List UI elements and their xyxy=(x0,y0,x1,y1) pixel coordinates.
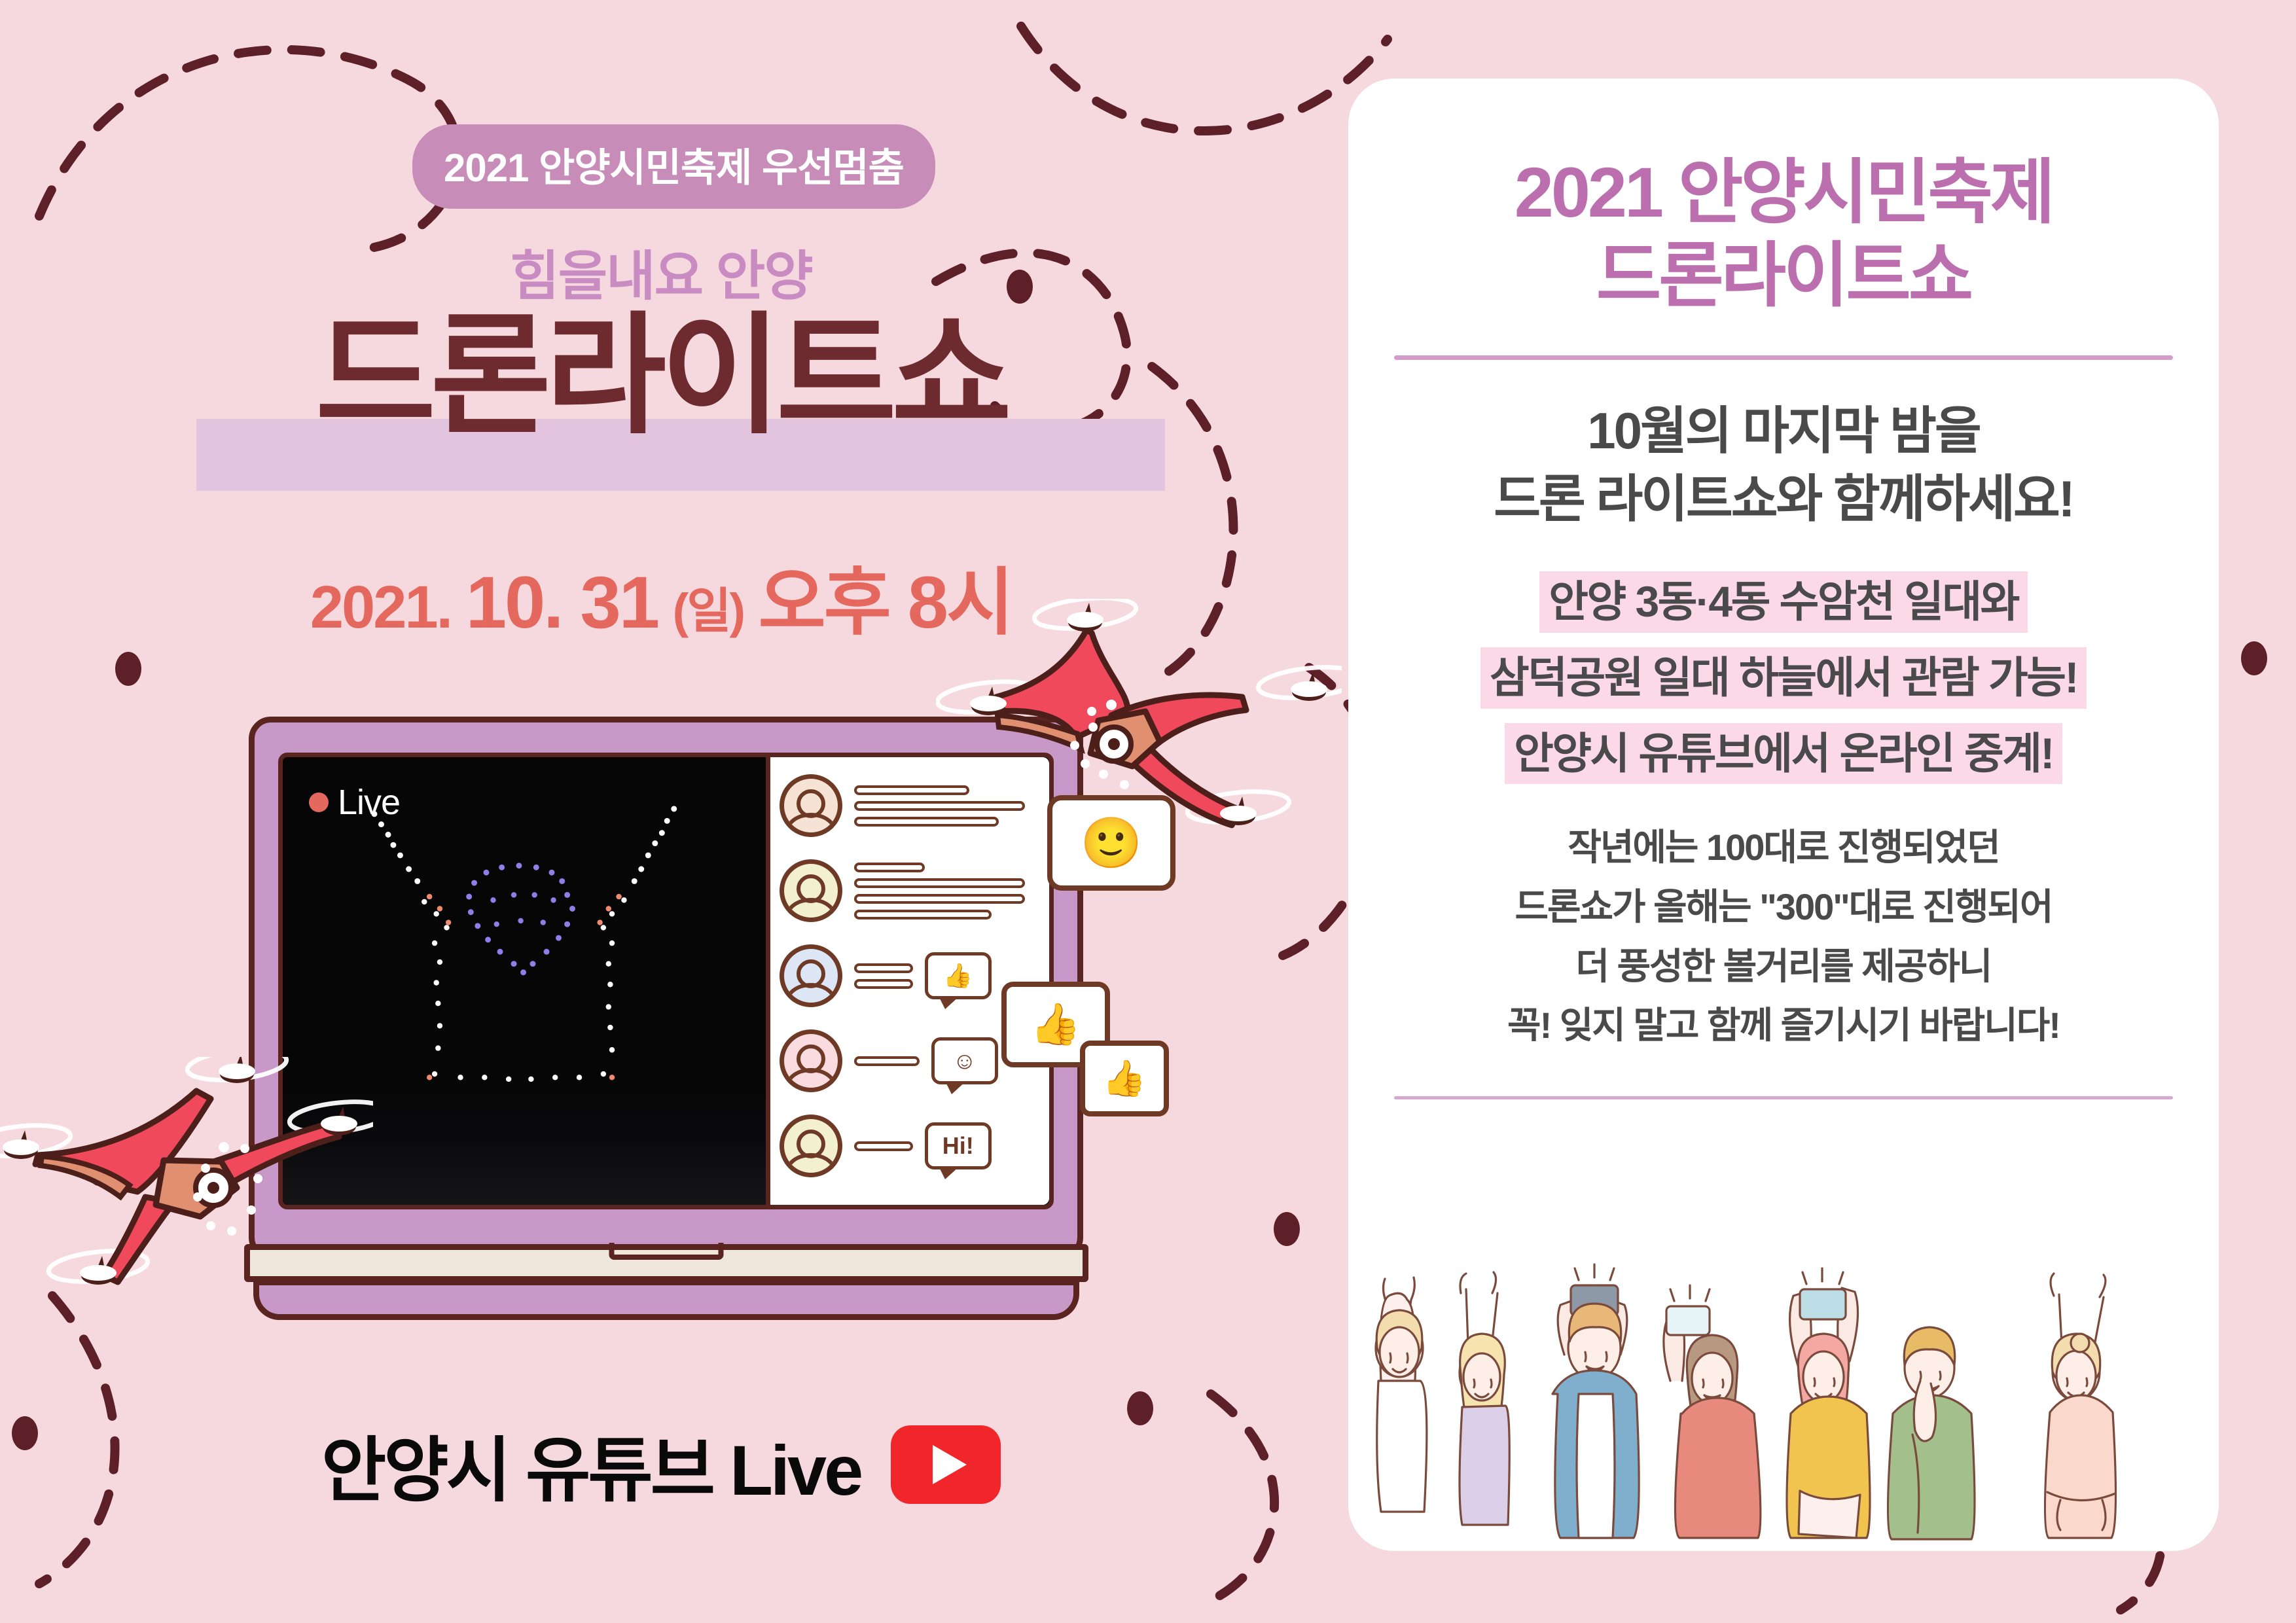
divider-bottom xyxy=(1394,1096,2173,1099)
highlight-item: 안양 3동·4동 수암천 일대와 xyxy=(1539,571,2028,633)
card-title-line-2: 드론라이트쇼 xyxy=(1394,234,2173,317)
message-placeholder-lines xyxy=(854,863,1040,919)
live-dot-icon xyxy=(309,793,329,812)
avatar xyxy=(780,774,842,837)
youtube-play-icon[interactable] xyxy=(891,1425,1001,1504)
paragraph-line: 작년에는 100대로 진행되었던 xyxy=(1394,818,2173,878)
chat-text-bubble: Hi! xyxy=(925,1122,992,1169)
poster-subtitle: 힘을내요 안양 xyxy=(0,232,1322,310)
paragraph-line: 드론쇼가 올해는 "300"대로 진행되어 xyxy=(1394,878,2173,937)
card-lead: 10월의 마지막 밤을 드론 라이트쇼와 함께하세요! xyxy=(1394,397,2173,533)
avatar xyxy=(780,944,842,1007)
thumbs-up-bubble: 👍 xyxy=(925,952,992,999)
live-label: Live xyxy=(338,782,400,823)
poster-root: 2021 안양시민축제 우선멈춤 힘을내요 안양 드론라이트쇼 2021. 10… xyxy=(0,0,2296,1623)
message-placeholder-lines xyxy=(854,1056,920,1066)
avatar xyxy=(780,859,842,922)
drone-bottom-left xyxy=(0,1057,373,1319)
info-card-content: 2021 안양시민축제 드론라이트쇼 10월의 마지막 밤을 드론 라이트쇼와 … xyxy=(1348,79,2219,1099)
message-placeholder-lines xyxy=(854,963,913,989)
laptop-base-body xyxy=(253,1279,1079,1320)
date-month-day: 10. 31 xyxy=(466,562,658,643)
message-placeholder-lines xyxy=(854,1141,913,1151)
date-year: 2021. xyxy=(310,574,451,641)
laptop-trackpad-notch xyxy=(609,1243,723,1260)
drone-top-right xyxy=(936,599,1342,861)
left-column: 2021 안양시민축제 우선멈춤 힘을내요 안양 드론라이트쇼 2021. 10… xyxy=(0,0,1322,1623)
paragraph-line: 더 풍성한 볼거리를 제공하니 xyxy=(1394,937,2173,997)
highlight-item: 삼덕공원 일대 하늘에서 관람 가능! xyxy=(1480,647,2087,709)
highlight-item: 안양시 유튜브에서 온라인 중계! xyxy=(1505,723,2062,785)
crowd-illustration xyxy=(1348,1185,2219,1551)
card-title: 2021 안양시민축제 드론라이트쇼 xyxy=(1394,151,2173,317)
live-badge: Live xyxy=(309,782,400,823)
highlight-list: 안양 3동·4동 수암천 일대와 삼덕공원 일대 하늘에서 관람 가능! 안양시… xyxy=(1394,571,2173,784)
page-title: 드론라이트쇼 xyxy=(0,308,1322,445)
card-title-line-1: 2021 안양시민축제 xyxy=(1394,151,2173,234)
card-lead-line-1: 10월의 마지막 밤을 xyxy=(1394,397,2173,465)
date-weekday: (일) xyxy=(673,584,744,638)
avatar xyxy=(780,1029,842,1092)
divider-top xyxy=(1394,355,2173,360)
chat-message-row xyxy=(780,859,1040,922)
avatar xyxy=(780,1115,842,1177)
info-card: 2021 안양시민축제 드론라이트쇼 10월의 마지막 밤을 드론 라이트쇼와 … xyxy=(1348,79,2219,1551)
poster-title-wrap: 드론라이트쇼 xyxy=(0,308,1322,445)
youtube-live-footer[interactable]: 안양시 유튜브 Live xyxy=(0,1414,1322,1516)
smiley-bubble: ☺ xyxy=(931,1037,998,1084)
card-paragraph: 작년에는 100대로 진행되었던 드론쇼가 올해는 "300"대로 진행되어 더… xyxy=(1394,818,2173,1056)
youtube-live-label: 안양시 유튜브 Live xyxy=(321,1414,861,1516)
paragraph-line: 꼭! 잊지 말고 함께 즐기시기 바랍니다! xyxy=(1394,996,2173,1056)
chat-message-row: Hi! xyxy=(780,1115,1040,1177)
thumbs-up-bubble-floating-2: 👍 xyxy=(1080,1041,1169,1116)
card-lead-line-2: 드론 라이트쇼와 함께하세요! xyxy=(1394,465,2173,533)
event-badge: 2021 안양시민축제 우선멈춤 xyxy=(412,124,935,209)
